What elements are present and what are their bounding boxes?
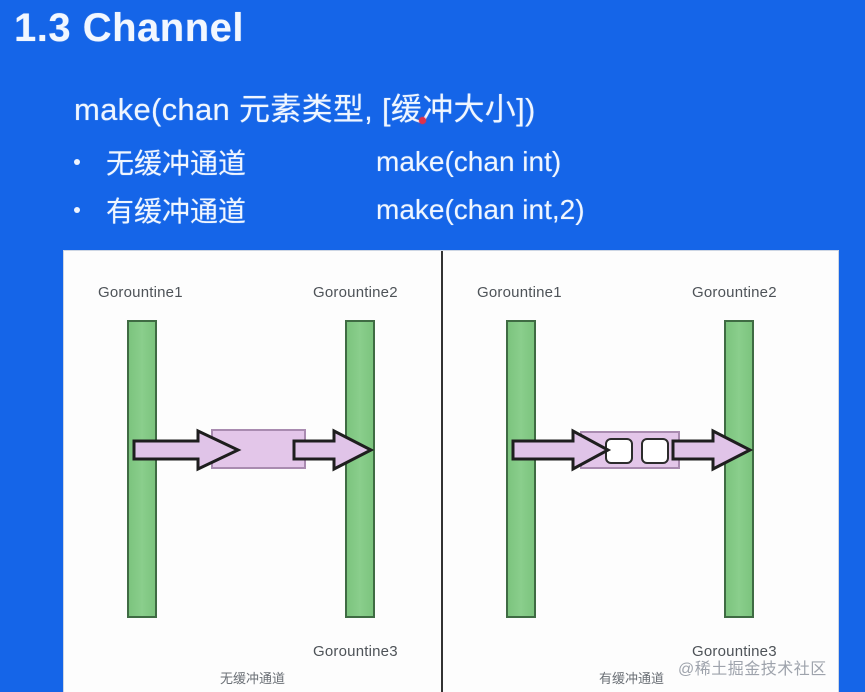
watermark: @稀土掘金技术社区 [678, 655, 827, 679]
goroutine2-label: Gorountine2 [692, 284, 777, 301]
bullet-dot-icon [74, 159, 80, 165]
bullet-item-unbuffered: 无缓冲通道 make(chan int) [74, 142, 561, 182]
bullet-code-unbuffered: make(chan int) [376, 146, 561, 178]
diagram-panel: Gorountine1 Gorountine2 Gorountine3 无缓冲通… [64, 251, 838, 692]
unbuffered-caption: 无缓冲通道 [64, 668, 441, 687]
goroutine2-label: Gorountine2 [313, 284, 398, 301]
goroutine1-label: Gorountine1 [98, 284, 183, 301]
bullet-label-buffered: 有缓冲通道 [106, 190, 376, 230]
channel-syntax-text: make(chan 元素类型, [缓冲大小]) [74, 84, 536, 129]
receive-arrow-icon [671, 429, 753, 471]
red-marker-dot [419, 117, 426, 124]
bullet-code-buffered: make(chan int,2) [376, 194, 585, 226]
diagram-buffered-channel: Gorountine1 Gorountine2 Gorountine3 有缓冲通… [443, 251, 820, 692]
bullet-item-buffered: 有缓冲通道 make(chan int,2) [74, 190, 585, 230]
send-arrow-icon [511, 429, 611, 471]
page-title: 1.3 Channel [14, 6, 244, 51]
receive-arrow-icon [292, 429, 374, 471]
diagram-unbuffered-channel: Gorountine1 Gorountine2 Gorountine3 无缓冲通… [64, 251, 441, 692]
bullet-dot-icon [74, 207, 80, 213]
send-arrow-icon [132, 429, 242, 471]
goroutine3-label: Gorountine3 [313, 643, 398, 660]
buffer-slot [641, 438, 669, 464]
goroutine1-label: Gorountine1 [477, 284, 562, 301]
bullet-label-unbuffered: 无缓冲通道 [106, 142, 376, 182]
